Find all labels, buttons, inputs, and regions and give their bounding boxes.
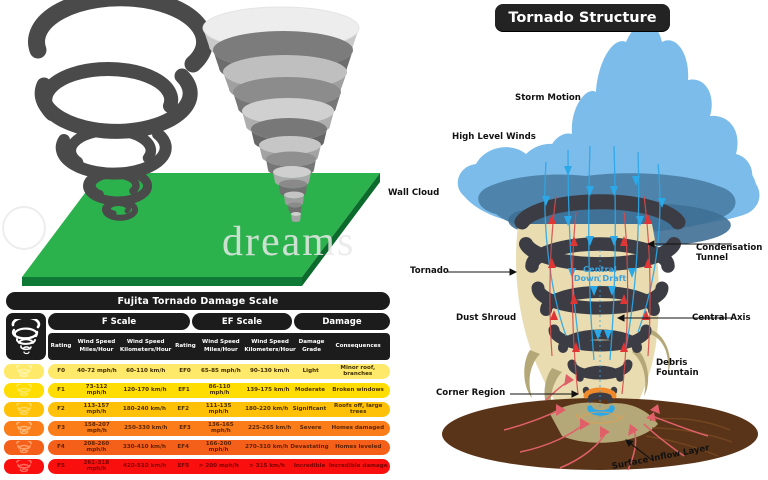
col-header-ef-rating: Rating [172, 333, 198, 360]
cell-f_rating: F3 [48, 421, 74, 436]
cell-conseq: Broken windows [326, 383, 390, 398]
row-tornado-icon [4, 421, 44, 436]
label-central-down-draft: Central Down Draft [558, 265, 642, 284]
cell-grade: Severe [296, 421, 326, 436]
col-header-grade: Damage Grade [297, 333, 326, 360]
diagram-title: Tornado Structure [495, 4, 670, 31]
cell-conseq: Roofs off, large trees [326, 402, 390, 417]
cell-ef_mph: 86-110 mph/h [197, 383, 242, 398]
cell-ef_mph: > 200 mph/h [196, 459, 241, 474]
cell-ef_rating: EF5 [170, 459, 196, 474]
col-header-f-kmh: Wind Speed Kilometers/Hour [119, 333, 173, 360]
row-tornado-icon [4, 383, 44, 398]
tornado-3d-scene: dreams [0, 0, 400, 290]
label-corner-region: Corner Region [436, 388, 505, 398]
fujita-damage-scale-table: Fujita Tornado Damage Scale F Scale EF S… [0, 291, 400, 480]
cell-f_rating: F0 [48, 364, 74, 379]
cell-ef_kmh: 225-265 km/h [244, 421, 296, 436]
cell-grade: Devastating [292, 440, 326, 455]
cell-conseq: Homes damaged [326, 421, 390, 436]
cell-ef_mph: 166-200 mph/h [196, 440, 241, 455]
cell-grade: Light [296, 364, 326, 379]
cell-f_mph: 40-72 mph/h [74, 364, 119, 379]
table-row: F3158-207 mph/h250-330 km/hEF3136-165 mp… [48, 421, 390, 436]
label-debris-fountain: Debris Fountain [656, 358, 699, 378]
cell-ef_kmh: 90-130 km/h [244, 364, 296, 379]
group-header-f-scale: F Scale [48, 313, 190, 330]
col-header-ef-kmh: Wind Speed Kilometers/Hour [243, 333, 297, 360]
cell-f_kmh: 60-110 km/h [120, 364, 172, 379]
cell-ef_mph: 111-135 mph/h [196, 402, 241, 417]
cell-ef_rating: EF4 [170, 440, 196, 455]
row-tornado-icon [4, 364, 44, 379]
cell-f_mph: 261-318 mph/h [74, 459, 119, 474]
table-title: Fujita Tornado Damage Scale [6, 292, 390, 310]
cell-f_mph: 73-112 mph/h [74, 383, 119, 398]
cell-ef_kmh: 139-175 km/h [242, 383, 294, 398]
cell-ef_mph: 65-85 mph/h [198, 364, 243, 379]
cell-f_mph: 208-260 mph/h [74, 440, 119, 455]
group-header-damage: Damage [294, 313, 390, 330]
cell-f_rating: F2 [48, 402, 74, 417]
col-header-f-mph: Wind Speed Miles/Hour [74, 333, 119, 360]
tornado-funnel-dark [30, 10, 220, 225]
infographic-canvas: dreams Fujita Tornado Damage Scale F Sca… [0, 0, 768, 480]
tornado-structure-illustration [400, 0, 768, 480]
label-central-axis: Central Axis [692, 313, 751, 323]
label-storm-motion: Storm Motion [515, 93, 581, 103]
tornado-icon [6, 313, 46, 360]
group-header-ef-scale: EF Scale [192, 313, 292, 330]
label-high-level-winds: High Level Winds [452, 132, 536, 142]
cell-ef_rating: EF0 [172, 364, 198, 379]
col-header-f-rating: Rating [48, 333, 74, 360]
row-tornado-icon [4, 440, 44, 455]
cell-grade: Moderate [294, 383, 326, 398]
cell-ef_rating: EF3 [172, 421, 198, 436]
table-row: F5261-318 mph/h420-510 km/hEF5> 200 mph/… [48, 459, 390, 474]
cell-ef_mph: 136-165 mph/h [198, 421, 243, 436]
cell-f_mph: 113-157 mph/h [74, 402, 119, 417]
table-row: F4208-260 mph/h330-410 km/hEF4166-200 mp… [48, 440, 390, 455]
table-row: F2113-157 mph/h180-240 km/hEF2111-135 mp… [48, 402, 390, 417]
cell-ef_rating: EF2 [170, 402, 196, 417]
cell-ef_rating: EF1 [171, 383, 197, 398]
tornado-funnel-light [195, 2, 370, 237]
cell-ef_kmh: 180-220 km/h [241, 402, 293, 417]
cell-ef_kmh: > 315 km/h [241, 459, 293, 474]
label-condensation-tunnel: Condensation Tunnel [696, 243, 762, 263]
cell-f_kmh: 420-510 km/h [119, 459, 171, 474]
table-row: F040-72 mph/h60-110 km/hEF065-85 mph/h90… [48, 364, 390, 379]
table-column-headers: Rating Wind Speed Miles/Hour Wind Speed … [48, 333, 390, 360]
row-tornado-icon [4, 459, 44, 474]
cell-f_rating: F1 [48, 383, 74, 398]
tornado-structure-panel: Tornado Structure Storm Motion High Leve… [400, 0, 768, 480]
label-dust-shroud: Dust Shroud [456, 313, 516, 323]
cell-conseq: Minor roof, branches [326, 364, 390, 379]
cell-f_kmh: 120-170 km/h [119, 383, 171, 398]
cell-ef_kmh: 270-310 km/h [241, 440, 293, 455]
cell-f_kmh: 250-330 km/h [120, 421, 172, 436]
cell-f_kmh: 330-410 km/h [119, 440, 171, 455]
col-header-conseq: Consequences [326, 333, 390, 360]
col-header-ef-mph: Wind Speed Miles/Hour [198, 333, 243, 360]
cell-grade: Significant [292, 402, 326, 417]
watermark-circle-icon [2, 206, 46, 250]
row-tornado-icon [4, 402, 44, 417]
cell-f_rating: F5 [48, 459, 74, 474]
cell-conseq: Homes leveled [326, 440, 390, 455]
cell-f_rating: F4 [48, 440, 74, 455]
cell-f_kmh: 180-240 km/h [119, 402, 171, 417]
table-row: F173-112 mph/h120-170 km/hEF186-110 mph/… [48, 383, 390, 398]
cell-conseq: Incredible damage [326, 459, 390, 474]
cell-f_mph: 158-207 mph/h [74, 421, 119, 436]
label-wall-cloud: Wall Cloud [388, 188, 439, 198]
cell-grade: Incredible [293, 459, 327, 474]
label-tornado: Tornado [410, 266, 449, 276]
